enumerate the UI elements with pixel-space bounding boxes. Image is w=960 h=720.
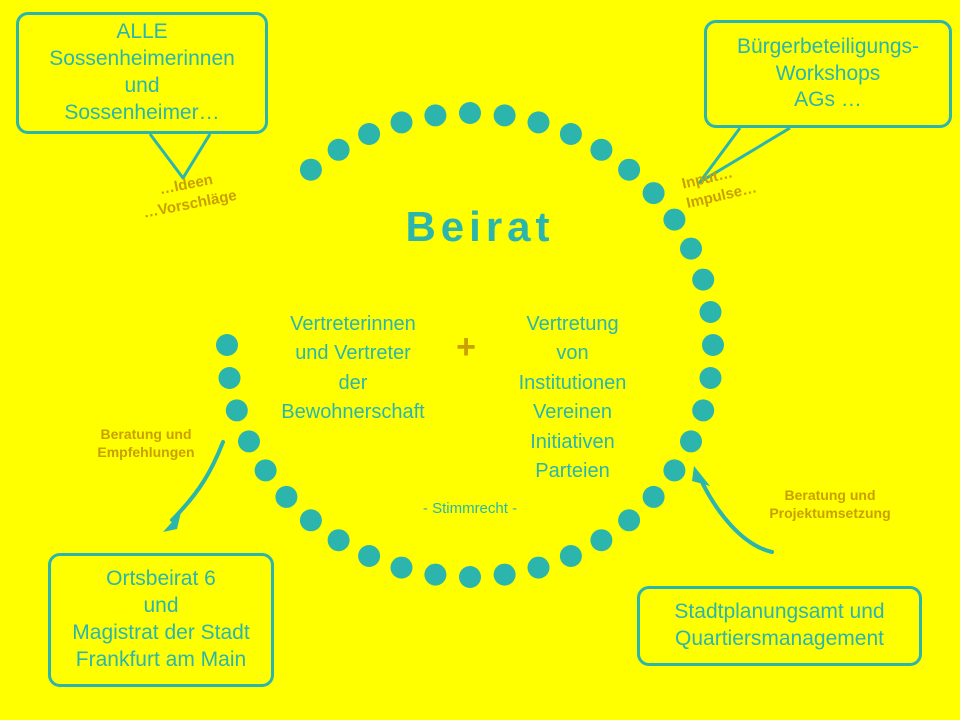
flow-label-beratung-empfehlungen: Beratung und Empfehlungen bbox=[62, 425, 230, 461]
ring-dot bbox=[680, 430, 702, 452]
ring-dot bbox=[459, 566, 481, 588]
ring-dot bbox=[643, 486, 665, 508]
ring-dot bbox=[643, 182, 665, 204]
callout-buergerbeteiligungs-workshops: Bürgerbeteiligungs- Workshops AGs … bbox=[704, 20, 952, 128]
arrow-to-ortsbeirat-head bbox=[163, 512, 181, 532]
ring-dot bbox=[692, 399, 714, 421]
ring-dot bbox=[618, 509, 640, 531]
ring-dot bbox=[358, 545, 380, 567]
ring-dot bbox=[494, 104, 516, 126]
ring-dot bbox=[238, 430, 260, 452]
diagram-title-beirat: Beirat bbox=[330, 203, 630, 251]
ring-dot bbox=[528, 111, 550, 133]
ring-dot bbox=[590, 529, 612, 551]
ring-dot bbox=[328, 529, 350, 551]
ring-dot bbox=[700, 301, 722, 323]
ring-dot bbox=[459, 102, 481, 124]
ring-dot bbox=[424, 564, 446, 586]
ring-dot bbox=[700, 367, 722, 389]
center-footnote-stimmrecht: - Stimmrecht - bbox=[355, 500, 585, 517]
callout-stadtplanungsamt-quartiersmanagement: Stadtplanungsamt und Quartiersmanagement bbox=[637, 586, 922, 666]
callout-ortsbeirat-magistrat: Ortsbeirat 6 und Magistrat der Stadt Fra… bbox=[48, 553, 274, 687]
center-column-bewohnerschaft: Vertreterinnen und Vertreter der Bewohne… bbox=[268, 310, 438, 428]
ring-dot bbox=[702, 334, 724, 356]
ring-dot bbox=[391, 111, 413, 133]
ring-dot bbox=[275, 486, 297, 508]
ring-dot bbox=[618, 159, 640, 181]
ring-dot bbox=[300, 159, 322, 181]
flow-label-beratung-projektumsetzung: Beratung und Projektumsetzung bbox=[742, 486, 918, 522]
ring-dot bbox=[494, 564, 516, 586]
flow-label-ideen-vorschlaege: …Ideen …Vorschläge bbox=[116, 162, 261, 227]
center-column-institutionen: Vertretung von Institutionen Vereinen In… bbox=[490, 310, 655, 486]
arrow-to-beirat-right-head bbox=[692, 466, 710, 486]
plus-icon: + bbox=[446, 328, 486, 367]
ring-dot bbox=[560, 123, 582, 145]
ring-dot bbox=[663, 209, 685, 231]
ring-dot bbox=[528, 557, 550, 579]
ring-dot bbox=[328, 139, 350, 161]
ring-dot bbox=[219, 367, 241, 389]
ring-dot bbox=[300, 509, 322, 531]
callout-alle-sossenheimer: ALLE Sossenheimerinnen und Sossenheimer… bbox=[16, 12, 268, 134]
ring-dot bbox=[560, 545, 582, 567]
ring-dot bbox=[255, 459, 277, 481]
ring-dot bbox=[680, 238, 702, 260]
flow-label-input-impulse: Input… Impulse… bbox=[680, 148, 806, 213]
ring-dot bbox=[424, 104, 446, 126]
ring-dot bbox=[590, 139, 612, 161]
diagram-canvas: ALLE Sossenheimerinnen und Sossenheimer…… bbox=[0, 0, 960, 720]
ring-dot bbox=[216, 334, 238, 356]
ring-dot bbox=[226, 399, 248, 421]
ring-dot bbox=[391, 557, 413, 579]
ring-dot bbox=[663, 459, 685, 481]
ring-dot bbox=[692, 269, 714, 291]
ring-dot bbox=[358, 123, 380, 145]
